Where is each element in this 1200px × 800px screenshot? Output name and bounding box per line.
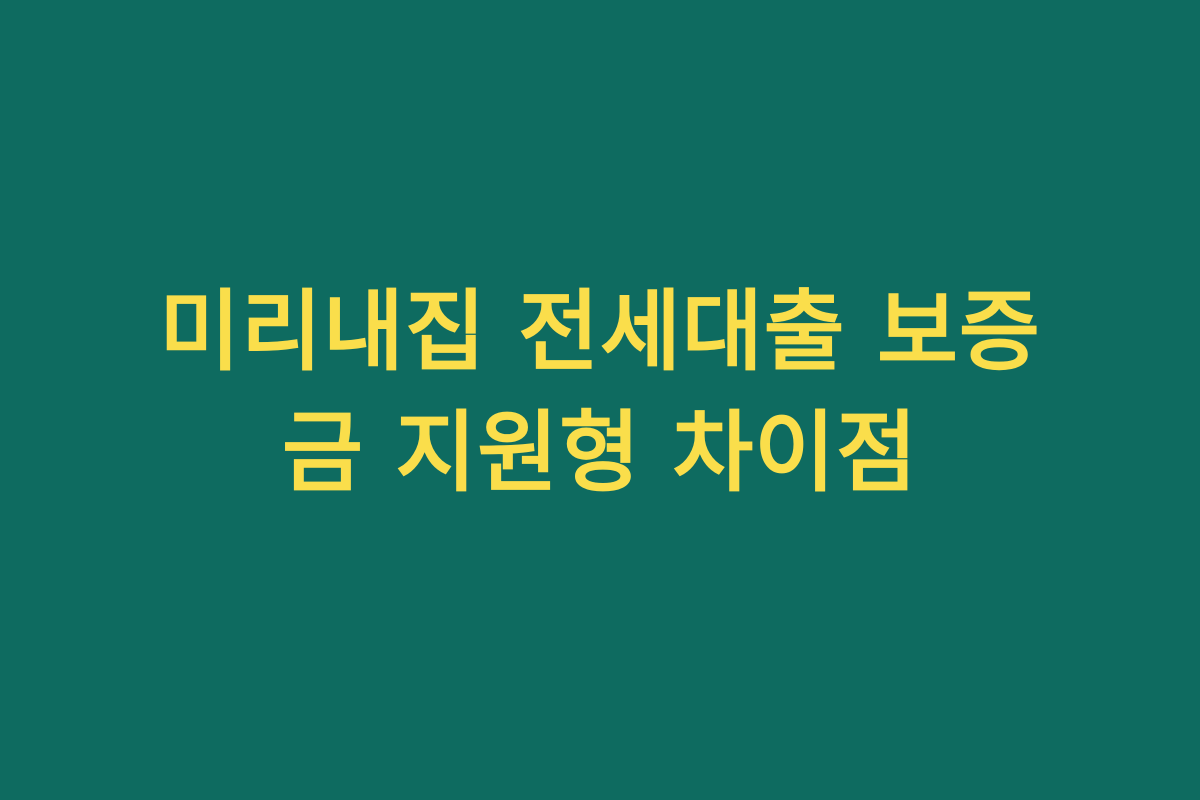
title-card-banner: 미리내집 전세대출 보증 금 지원형 차이점 bbox=[0, 0, 1200, 800]
page-title-line-2: 금 지원형 차이점 bbox=[159, 392, 1040, 513]
page-title: 미리내집 전세대출 보증 금 지원형 차이점 bbox=[159, 271, 1040, 514]
headline-block: 미리내집 전세대출 보증 금 지원형 차이점 bbox=[0, 0, 1200, 800]
page-title-line-1: 미리내집 전세대출 보증 bbox=[159, 271, 1040, 392]
